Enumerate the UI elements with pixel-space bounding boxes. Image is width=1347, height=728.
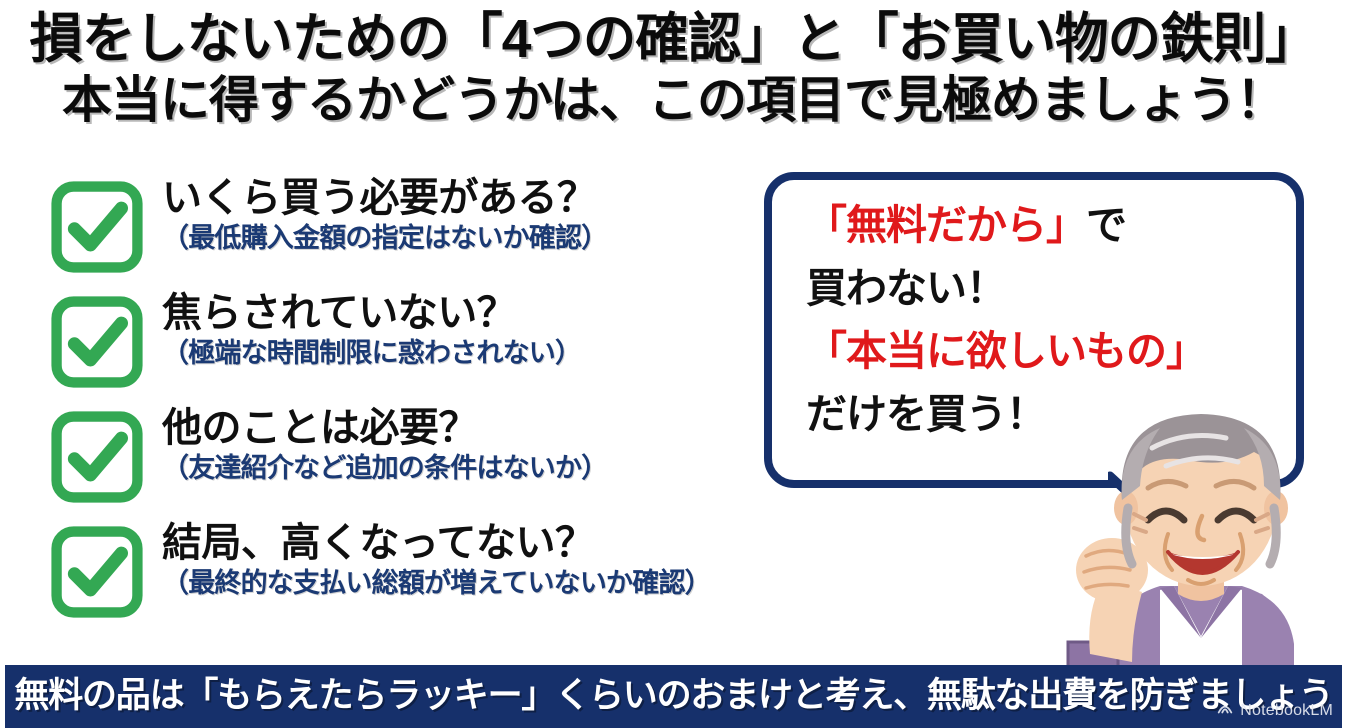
checkbox-checked-icon bbox=[50, 525, 144, 619]
title-line-2: 本当に得するかどうかは、この項目で見極めましょう！ bbox=[0, 70, 1347, 130]
checkbox-checked-icon bbox=[50, 295, 144, 389]
bottom-banner-text: 無料の品は「もらえたらラッキー」くらいのおまけと考え、無駄な出費を防ぎましょう bbox=[5, 675, 1342, 717]
checklist-item-1: いくら買う必要がある？ （最低購入金額の指定はないか確認） bbox=[44, 176, 804, 291]
checklist-item-4: 結局、高くなってない？ （最終的な支払い総額が増えていないか確認） bbox=[44, 521, 804, 636]
checklist-item-2-texts: 焦らされていない？ （極端な時間制限に惑わされない） bbox=[162, 289, 802, 369]
checklist-item-4-texts: 結局、高くなってない？ （最終的な支払い総額が増えていないか確認） bbox=[162, 519, 802, 599]
notebooklm-icon bbox=[1216, 699, 1234, 722]
page-title: 損をしないための「4つの確認」と「お買い物の鉄則」 本当に得するかどうかは、この… bbox=[0, 8, 1347, 130]
checklist-item-1-sub: （最低購入金額の指定はないか確認） bbox=[162, 222, 802, 254]
speech-bubble-line-2: 買わない！ bbox=[806, 257, 1296, 320]
checklist-item-1-main: いくら買う必要がある？ bbox=[162, 174, 802, 222]
speech-bubble-line-1: 「無料だから」で bbox=[806, 194, 1296, 257]
title-line-1: 損をしないための「4つの確認」と「お買い物の鉄則」 bbox=[7, 8, 1341, 70]
checklist-item-2-sub: （極端な時間制限に惑わされない） bbox=[162, 337, 802, 369]
checklist-item-4-main: 結局、高くなってない？ bbox=[162, 519, 802, 567]
checklist-item-3-sub: （友達紹介など追加の条件はないか） bbox=[162, 452, 802, 484]
checklist-item-3-main: 他のことは必要？ bbox=[162, 404, 802, 452]
infographic-slide: 損をしないための「4つの確認」と「お買い物の鉄則」 本当に得するかどうかは、この… bbox=[0, 0, 1347, 728]
checklist-item-2: 焦らされていない？ （極端な時間制限に惑わされない） bbox=[44, 291, 804, 406]
checklist-item-3: 他のことは必要？ （友達紹介など追加の条件はないか） bbox=[44, 406, 804, 521]
checkbox-checked-icon bbox=[50, 180, 144, 274]
checklist-item-3-texts: 他のことは必要？ （友達紹介など追加の条件はないか） bbox=[162, 404, 802, 484]
bottom-banner: 無料の品は「もらえたらラッキー」くらいのおまけと考え、無駄な出費を防ぎましょう bbox=[5, 665, 1342, 728]
notebooklm-watermark-label: NotebookLM bbox=[1240, 702, 1333, 720]
checkbox-checked-icon bbox=[50, 410, 144, 504]
checklist-item-1-texts: いくら買う必要がある？ （最低購入金額の指定はないか確認） bbox=[162, 174, 802, 254]
smiling-elderly-woman-illustration bbox=[1056, 404, 1346, 672]
checklist-item-4-sub: （最終的な支払い総額が増えていないか確認） bbox=[162, 567, 802, 599]
checklist: いくら買う必要がある？ （最低購入金額の指定はないか確認） 焦らされていない？ … bbox=[44, 176, 804, 636]
notebooklm-watermark: NotebookLM bbox=[1216, 699, 1333, 722]
speech-bubble-line-1-red: 「無料だから」 bbox=[806, 202, 1086, 248]
checklist-item-2-main: 焦らされていない？ bbox=[162, 289, 802, 337]
speech-bubble-line-1-black: で bbox=[1086, 202, 1126, 248]
speech-bubble-line-3: 「本当に欲しいもの」 bbox=[806, 320, 1296, 383]
